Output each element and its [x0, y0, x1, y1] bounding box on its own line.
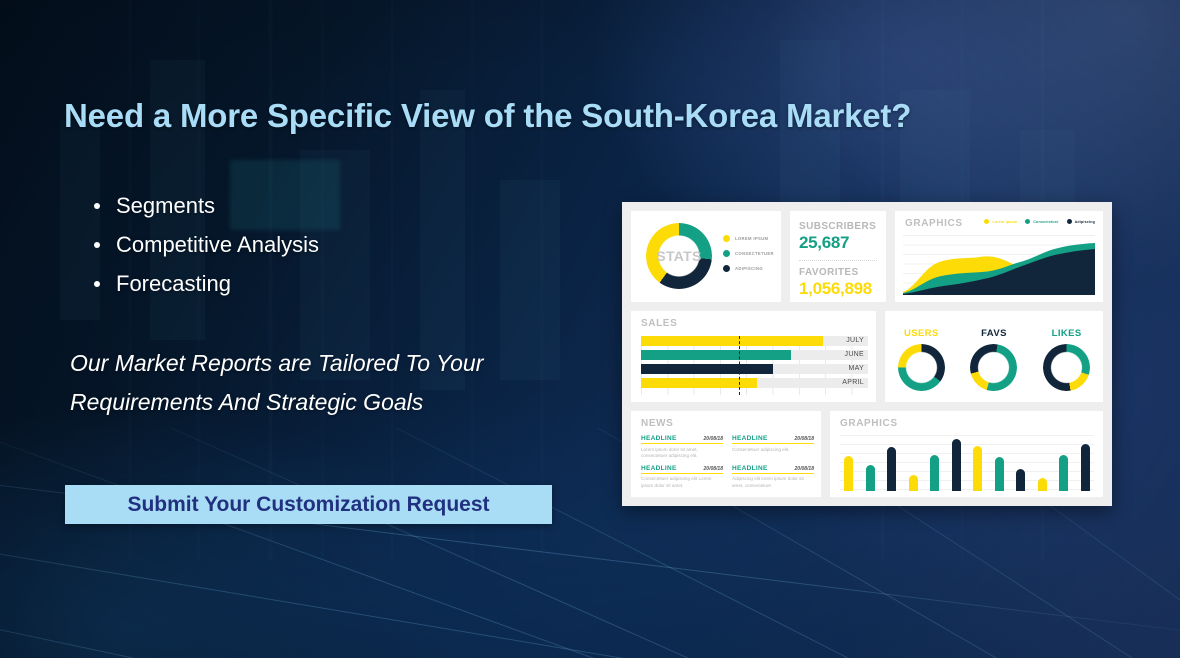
news-date: 20/08/18 [704, 436, 723, 442]
feature-list: Segments Competitive Analysis Forecastin… [88, 186, 319, 303]
legend-item: LOREM IPSUM [723, 235, 774, 242]
sales-label-june: JUNE [845, 350, 864, 360]
news-header: HEADLINE 20/08/18 [732, 465, 814, 474]
list-item[interactable]: HEADLINE 20/08/18 Adipiscing elit lorem … [732, 465, 814, 492]
dashboard-row-2: SALES JULY JUNE MAY [631, 311, 1103, 402]
sales-chart-card: SALES JULY JUNE MAY [631, 311, 876, 402]
list-item: Forecasting [88, 264, 319, 303]
news-header: HEADLINE 20/08/18 [641, 435, 723, 444]
news-date: 20/08/18 [795, 466, 814, 472]
banner-content: Need a More Specific View of the South-K… [0, 0, 1180, 658]
bar-1 [844, 456, 853, 491]
list-item[interactable]: HEADLINE 20/08/18 Consectetuer adipiscin… [732, 435, 814, 462]
news-body: Consectetuer adipiscing elit Lorem ipsum… [641, 476, 723, 489]
ring-metrics-card: USERS FAVS LIKES [885, 311, 1103, 402]
sales-label-july: JULY [846, 336, 864, 346]
bar-2 [866, 465, 875, 491]
legend-item: CONSECTETUER [723, 250, 774, 257]
area-chart-title: GRAPHICS [905, 218, 963, 229]
bar-7 [973, 446, 982, 491]
legend-swatch-icon [723, 235, 730, 242]
table-row: JULY [641, 336, 868, 346]
bar-6 [952, 439, 961, 491]
news-body: Lorem ipsum dolor sit amet, consectetuer… [641, 447, 723, 460]
legend-label: Consectetuer [1033, 220, 1058, 224]
counters-card: SUBSCRIBERS 25,687 FAVORITES 1,056,898 [790, 211, 886, 302]
subheadline: Our Market Reports are Tailored To Your … [70, 344, 630, 422]
bar-chart-plot [840, 435, 1094, 491]
list-item: Segments [88, 186, 319, 225]
news-headline: HEADLINE [641, 435, 677, 442]
sales-target-line [739, 336, 740, 395]
sales-bar-may [641, 364, 773, 374]
news-headline: HEADLINE [641, 465, 677, 472]
ring-label-users: USERS [898, 328, 945, 339]
legend-label: Adipiscing [1075, 220, 1095, 224]
ring-metric-favs: FAVS [970, 328, 1017, 391]
news-card-title: NEWS [641, 418, 673, 429]
news-card: NEWS HEADLINE 20/08/18 Lorem ipsum dolor… [631, 411, 821, 497]
favorites-value: 1,056,898 [799, 279, 877, 299]
bar-12 [1081, 444, 1090, 491]
legend-label: ADIPISCING [735, 266, 763, 271]
sales-chart-title: SALES [641, 318, 677, 329]
bar-11 [1059, 455, 1068, 491]
divider [799, 260, 877, 261]
news-body: Consectetuer adipiscing elit. [732, 447, 814, 454]
favorites-label: FAVORITES [799, 267, 877, 278]
bar-10 [1038, 478, 1047, 491]
legend-item: ADIPISCING [723, 265, 774, 272]
news-date: 20/08/18 [795, 436, 814, 442]
area-chart-legend: Lorem Ipsum Consectetuer Adipiscing [984, 219, 1095, 224]
submit-customization-request-button[interactable]: Submit Your Customization Request [65, 485, 552, 524]
legend-swatch-icon [723, 250, 730, 257]
stats-donut-card: STATS LOREM IPSUM CONSECTETUER ADIPIS [631, 211, 781, 302]
area-chart-plot [903, 235, 1095, 295]
sales-bar-july [641, 336, 823, 346]
news-headline: HEADLINE [732, 465, 768, 472]
ring-chart-users [898, 344, 945, 391]
ring-chart-favs [970, 344, 1017, 391]
ring-chart-likes [1043, 344, 1090, 391]
subscribers-value: 25,687 [799, 233, 877, 253]
ring-metric-users: USERS [898, 328, 945, 391]
bar-chart-title: GRAPHICS [840, 418, 898, 429]
bar-8 [995, 457, 1004, 491]
legend-swatch-icon [984, 219, 989, 224]
sales-label-may: MAY [848, 364, 864, 374]
list-item: Competitive Analysis [88, 225, 319, 264]
legend-swatch-icon [723, 265, 730, 272]
stats-legend: LOREM IPSUM CONSECTETUER ADIPISCING [723, 235, 774, 280]
page-title: Need a More Specific View of the South-K… [64, 97, 1074, 135]
legend-item: Lorem Ipsum [984, 219, 1017, 224]
news-list: HEADLINE 20/08/18 Lorem ipsum dolor sit … [641, 435, 814, 491]
area-chart-card: GRAPHICS Lorem Ipsum Consectetuer Adi [895, 211, 1103, 302]
ring-label-favs: FAVS [970, 328, 1017, 339]
dashboard-row-1: STATS LOREM IPSUM CONSECTETUER ADIPIS [631, 211, 1103, 302]
legend-swatch-icon [1025, 219, 1030, 224]
legend-item: Consectetuer [1025, 219, 1058, 224]
table-row: MAY [641, 364, 868, 374]
bar-3 [887, 447, 896, 491]
legend-label: CONSECTETUER [735, 251, 774, 256]
promo-banner: Need a More Specific View of the South-K… [0, 0, 1180, 658]
news-date: 20/08/18 [704, 466, 723, 472]
dashboard-mockup: STATS LOREM IPSUM CONSECTETUER ADIPIS [622, 202, 1112, 506]
news-headline: HEADLINE [732, 435, 768, 442]
table-row: APRIL [641, 378, 868, 388]
bar-5 [930, 455, 939, 491]
sales-label-april: APRIL [842, 378, 864, 388]
area-chart-svg [903, 235, 1095, 295]
legend-label: Lorem Ipsum [992, 220, 1017, 224]
ring-label-likes: LIKES [1043, 328, 1090, 339]
ring-metric-likes: LIKES [1043, 328, 1090, 391]
sales-bar-june [641, 350, 791, 360]
bar-chart-card: GRAPHICS [830, 411, 1103, 497]
dashboard-row-3: NEWS HEADLINE 20/08/18 Lorem ipsum dolor… [631, 411, 1103, 497]
bar-9 [1016, 469, 1025, 491]
bar-4 [909, 475, 918, 491]
list-item[interactable]: HEADLINE 20/08/18 Consectetuer adipiscin… [641, 465, 723, 492]
news-header: HEADLINE 20/08/18 [732, 435, 814, 444]
stats-donut-label: STATS [646, 223, 712, 289]
legend-label: LOREM IPSUM [735, 236, 768, 241]
subscribers-label: SUBSCRIBERS [799, 221, 877, 232]
news-body: Adipiscing elit lorem ipsum dolor sit am… [732, 476, 814, 489]
table-row: JUNE [641, 350, 868, 360]
legend-swatch-icon [1067, 219, 1072, 224]
bar-chart-bars [840, 435, 1094, 491]
list-item[interactable]: HEADLINE 20/08/18 Lorem ipsum dolor sit … [641, 435, 723, 462]
sales-chart-plot: JULY JUNE MAY APRIL [641, 336, 868, 395]
news-header: HEADLINE 20/08/18 [641, 465, 723, 474]
legend-item: Adipiscing [1067, 219, 1095, 224]
